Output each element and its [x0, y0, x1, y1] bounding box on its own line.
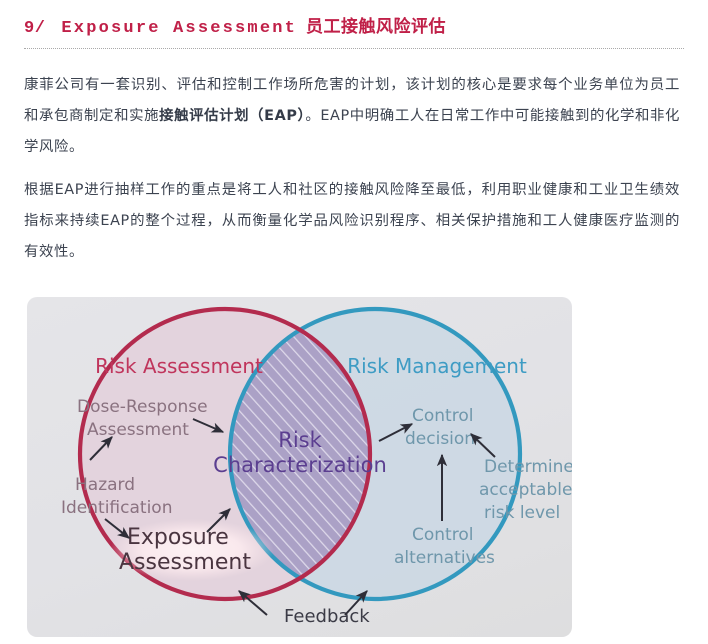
document-page: 9/ Exposure Assessment 员工接触风险评估 康菲公司有一套识…: [0, 0, 708, 268]
venn-diagram-figure: Risk Assessment Risk Management Dose-Res…: [27, 297, 572, 637]
label-exposure-assessment-line2: Assessment: [119, 550, 251, 575]
label-dose-response-line2: Assessment: [87, 420, 189, 440]
label-exposure-assessment-line1: Exposure: [127, 525, 229, 550]
venn-diagram-svg: Risk Assessment Risk Management Dose-Res…: [27, 297, 572, 637]
paragraph-1: 康菲公司有一套识别、评估和控制工作场所危害的计划，该计划的核心是要求每个业务单位…: [0, 70, 708, 163]
label-determine-line3: risk level: [484, 503, 560, 523]
label-control-decision-line1: Control: [412, 406, 473, 426]
label-feedback: Feedback: [284, 606, 370, 627]
section-title-en: Exposure Assessment: [61, 19, 297, 38]
page-title: 9/ Exposure Assessment 员工接触风险评估: [0, 0, 708, 38]
label-risk-characterization-line2: Characterization: [213, 453, 387, 477]
label-risk-characterization-line1: Risk: [278, 428, 322, 452]
label-control-alternatives-line1: Control: [412, 525, 473, 545]
label-hazard-line1: Hazard: [75, 475, 135, 495]
heading-divider: [24, 47, 684, 49]
label-control-alternatives-line2: alternatives: [394, 548, 495, 568]
paragraph-1-bold-term: 接触评估计划（EAP）: [159, 108, 305, 124]
left-circle-title: Risk Assessment: [95, 354, 263, 378]
label-determine-line2: acceptable: [479, 480, 572, 500]
figure-panel: Risk Assessment Risk Management Dose-Res…: [27, 297, 572, 637]
label-hazard-line2: Identification: [61, 498, 172, 518]
label-determine-line1: Determine: [484, 457, 572, 477]
label-control-decision-line2: decision: [405, 429, 475, 449]
paragraph-2: 根据EAP进行抽样工作的重点是将工人和社区的接触风险降至最低，利用职业健康和工业…: [0, 175, 708, 268]
section-number: 9/: [24, 19, 45, 38]
section-title-zh: 员工接触风险评估: [306, 12, 446, 37]
right-circle-title: Risk Management: [347, 354, 527, 378]
label-dose-response-line1: Dose-Response: [77, 397, 208, 417]
